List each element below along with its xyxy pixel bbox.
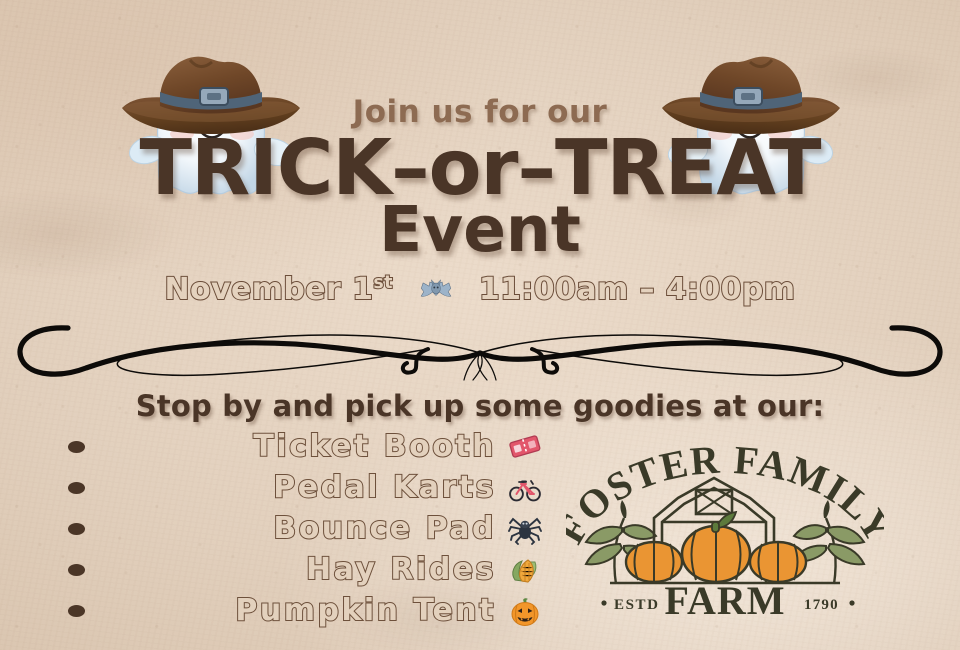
logo-farm-label: FARM	[665, 578, 786, 622]
farm-logo: FOSTER FAMILY	[566, 432, 884, 622]
logo-right-dot	[849, 600, 854, 605]
bicycle-emoji	[508, 471, 542, 505]
event-date: November 1st	[165, 272, 393, 307]
event-time: 11:00am – 4:00pm	[479, 272, 796, 307]
list-item: Pedal Karts	[40, 467, 560, 508]
list-item-label: Pedal Karts	[273, 470, 496, 505]
bullet-icon	[68, 482, 85, 494]
spider-emoji	[508, 512, 542, 546]
ticket-emoji	[508, 430, 542, 464]
goodies-list: Ticket Booth Pedal Karts	[40, 426, 560, 631]
bullet-icon	[68, 564, 85, 576]
poster-canvas: Join us for our TRICK–or–TREAT Event Nov…	[0, 0, 960, 650]
list-item-label: Pumpkin Tent	[235, 593, 496, 628]
page-title-line2: Event	[0, 198, 960, 261]
event-datetime-row: November 1st 11:00am – 4:00pm	[0, 272, 960, 307]
logo-estd-label: ESTD	[614, 597, 660, 613]
list-item-label: Bounce Pad	[273, 511, 496, 546]
list-item: Pumpkin Tent	[40, 590, 560, 631]
list-item-label: Ticket Booth	[253, 429, 496, 464]
subtitle-text: Stop by and pick up some goodies at our:	[0, 389, 960, 423]
logo-left-dot	[601, 600, 606, 605]
bat-icon	[419, 277, 453, 303]
list-item: Ticket Booth	[40, 426, 560, 467]
event-date-text: November 1	[165, 272, 374, 307]
bullet-icon	[68, 523, 85, 535]
list-item: Bounce Pad	[40, 508, 560, 549]
corn-emoji	[508, 553, 542, 587]
bullet-icon	[68, 441, 85, 453]
list-item-label: Hay Rides	[306, 552, 496, 587]
logo-year: 1790	[804, 597, 839, 613]
bullet-icon	[68, 605, 85, 617]
list-item: Hay Rides	[40, 549, 560, 590]
event-date-ordinal: st	[373, 273, 392, 293]
calligraphic-flourish-divider	[8, 322, 952, 384]
pumpkin-emoji	[508, 594, 542, 628]
